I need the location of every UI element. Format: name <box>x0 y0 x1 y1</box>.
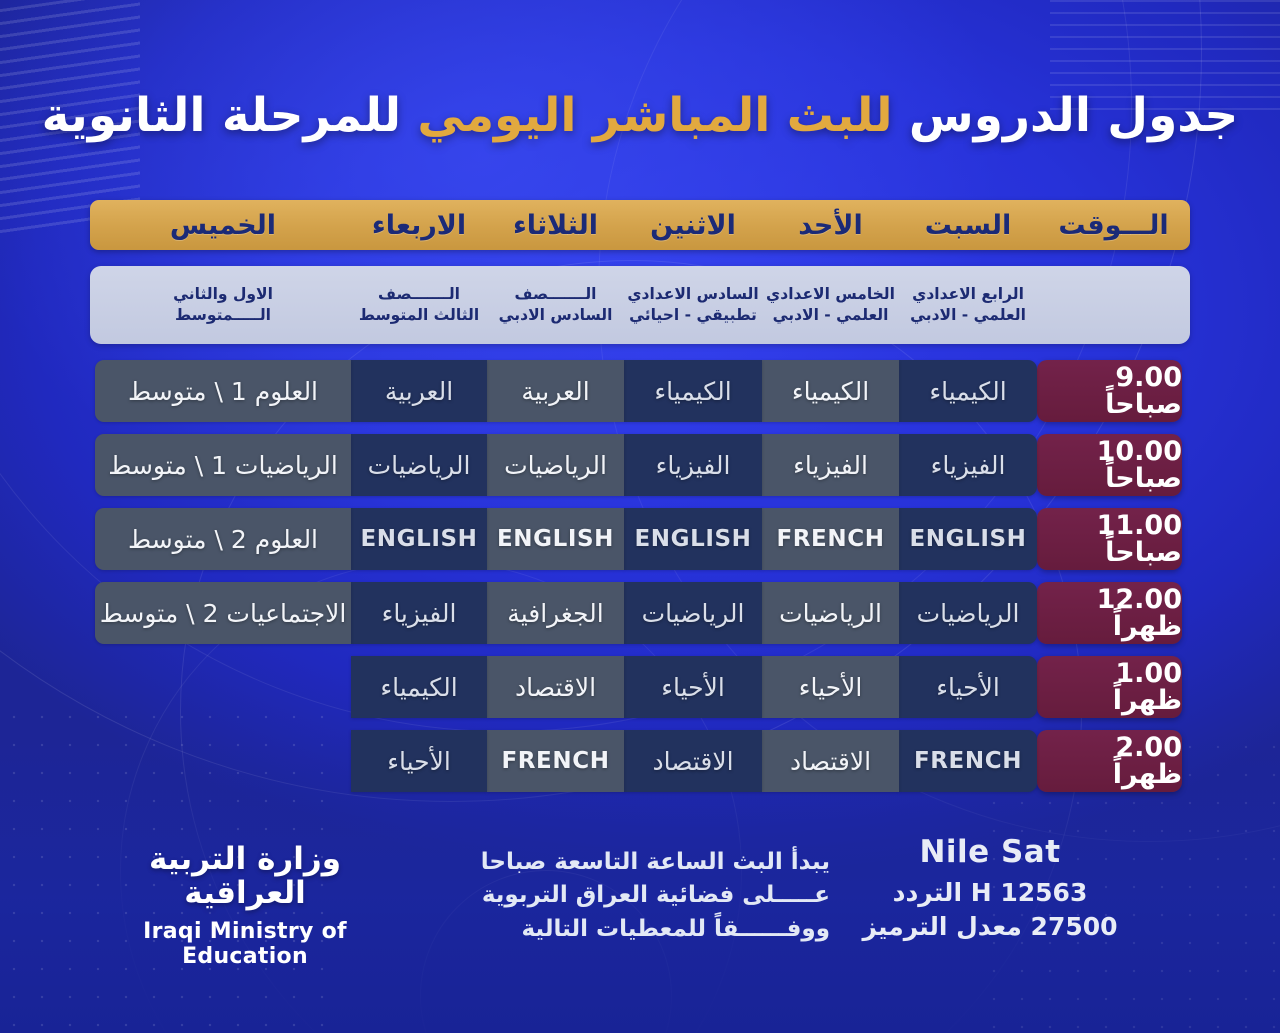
grade-line-1: الرابع الاعدادي <box>912 284 1024 305</box>
schedule-cell-sunday: الفيزياء <box>762 434 899 496</box>
column-header-wednesday: الاربعاء <box>351 212 487 239</box>
schedule-cell-wednesday: الفيزياء <box>351 582 487 644</box>
satellite-symbol-rate: 27500 معدل الترميز <box>855 910 1125 944</box>
subject-label: الرياضيات 1 \ متوسط <box>108 453 338 478</box>
column-header-thursday: الخميس <box>95 212 351 239</box>
schedule-cell-tuesday: FRENCH <box>487 730 624 792</box>
subject-label: الرياضيات <box>642 601 745 626</box>
table-subheader-row: الرابع الاعداديالعلمي - الادبيالخامس الا… <box>90 266 1190 344</box>
subject-label: العربية <box>521 379 589 404</box>
column-header-tuesday: الثلاثاء <box>487 212 624 239</box>
subject-label: ENGLISH <box>909 528 1026 551</box>
broadcast-note-line-1: يبدأ البث الساعة التاسعة صباحا <box>470 846 830 879</box>
subject-label: العلوم 2 \ متوسط <box>128 527 318 552</box>
schedule-cell-monday: الاقتصاد <box>624 730 762 792</box>
table-row: 2.00 ظهراًFRENCHالاقتصادالاقتصادFRENCHال… <box>90 730 1190 792</box>
column-grade-tuesday: الـــــــصفالسادس الادبي <box>487 284 624 326</box>
subject-label: ENGLISH <box>634 528 751 551</box>
schedule-cell-tuesday: الجغرافية <box>487 582 624 644</box>
title-part-2: للمرحلة الثانوية <box>42 88 418 143</box>
schedule-cell-saturday: ENGLISH <box>899 508 1037 570</box>
schedule-cell-wednesday: ENGLISH <box>351 508 487 570</box>
column-header-saturday: السبت <box>899 212 1037 239</box>
subject-label: الجغرافية <box>507 601 603 626</box>
satellite-info: Nile Sat 12563 H التردد 27500 معدل الترم… <box>855 834 1125 944</box>
grade-line-2: الثالث المتوسط <box>359 305 479 326</box>
subject-label: الفيزياء <box>931 453 1006 478</box>
subject-label: الأحياء <box>799 675 863 700</box>
table-header-row: الـــوقتالسبتالأحدالاثنينالثلاثاءالاربعا… <box>90 200 1190 250</box>
time-cell: 9.00 صباحاً <box>1037 360 1182 422</box>
subject-label: الرياضيات <box>504 453 607 478</box>
table-row: 11.00 صباحاًENGLISHFRENCHENGLISHENGLISHE… <box>90 508 1190 570</box>
column-grade-sunday: الخامس الاعداديالعلمي - الادبي <box>762 284 899 326</box>
schedule-cell-wednesday: العربية <box>351 360 487 422</box>
subject-label: الرياضيات <box>368 453 471 478</box>
schedule-cell-tuesday: ENGLISH <box>487 508 624 570</box>
subject-label: الأحياء <box>387 749 451 774</box>
grade-line-1: السادس الاعدادي <box>627 284 758 305</box>
schedule-cell-sunday: الاقتصاد <box>762 730 899 792</box>
grade-line-2: تطبيقي - احيائي <box>629 305 757 326</box>
subject-label: ENGLISH <box>360 528 477 551</box>
schedule-cell-saturday: الكيمياء <box>899 360 1037 422</box>
subject-label: العلوم 1 \ متوسط <box>128 379 318 404</box>
grade-line-2: السادس الادبي <box>499 305 613 326</box>
schedule-cell-monday: الرياضيات <box>624 582 762 644</box>
time-cell: 11.00 صباحاً <box>1037 508 1182 570</box>
schedule-cell-tuesday: العربية <box>487 360 624 422</box>
table-row: 10.00 صباحاًالفيزياءالفيزياءالفيزياءالري… <box>90 434 1190 496</box>
schedule-cell-saturday: الرياضيات <box>899 582 1037 644</box>
ministry-logo-english: Iraqi Ministry of Education <box>95 919 395 969</box>
ministry-logo-arabic: وزارة التربية العراقية <box>95 842 395 910</box>
subject-label: الاقتصاد <box>515 675 596 700</box>
schedule-table: الـــوقتالسبتالأحدالاثنينالثلاثاءالاربعا… <box>90 200 1190 792</box>
ministry-logo: وزارة التربية العراقية Iraqi Ministry of… <box>95 842 395 969</box>
table-body: 9.00 صباحاًالكيمياءالكيمياءالكيمياءالعرب… <box>90 360 1190 792</box>
broadcast-note-line-2: عـــــلى فضائية العراق التربوية <box>470 879 830 912</box>
schedule-cell-thursday <box>95 730 351 792</box>
schedule-cell-thursday <box>95 656 351 718</box>
column-grade-thursday: الاول والثانيالـــــمتوسط <box>95 284 351 326</box>
table-row: 12.00 ظهراًالرياضياتالرياضياتالرياضياتال… <box>90 582 1190 644</box>
schedule-cell-thursday: الرياضيات 1 \ متوسط <box>95 434 351 496</box>
schedule-cell-tuesday: الاقتصاد <box>487 656 624 718</box>
column-grade-saturday: الرابع الاعداديالعلمي - الادبي <box>899 284 1037 326</box>
title-part-highlight: للبث المباشر اليومي <box>417 88 892 143</box>
schedule-cell-thursday: الاجتماعيات 2 \ متوسط <box>95 582 351 644</box>
column-header-time: الـــوقت <box>1037 212 1190 239</box>
subject-label: الأحياء <box>936 675 1000 700</box>
title-part-1: جدول الدروس <box>893 88 1239 143</box>
subject-label: الكيمياء <box>792 379 869 404</box>
grade-line-2: العلمي - الادبي <box>910 305 1026 326</box>
subject-label: الاقتصاد <box>790 749 871 774</box>
schedule-cell-wednesday: الكيمياء <box>351 656 487 718</box>
schedule-cell-monday: ENGLISH <box>624 508 762 570</box>
schedule-cell-sunday: الرياضيات <box>762 582 899 644</box>
schedule-cell-tuesday: الرياضيات <box>487 434 624 496</box>
schedule-cell-wednesday: الرياضيات <box>351 434 487 496</box>
grade-line-1: الاول والثاني <box>173 284 273 305</box>
satellite-name: Nile Sat <box>855 834 1125 870</box>
schedule-cell-saturday: الفيزياء <box>899 434 1037 496</box>
subject-label: الاجتماعيات 2 \ متوسط <box>100 601 347 626</box>
time-cell: 10.00 صباحاً <box>1037 434 1182 496</box>
schedule-cell-sunday: FRENCH <box>762 508 899 570</box>
table-row: 9.00 صباحاًالكيمياءالكيمياءالكيمياءالعرب… <box>90 360 1190 422</box>
page-title: جدول الدروس للبث المباشر اليومي للمرحلة … <box>0 88 1280 143</box>
subject-label: الرياضيات <box>779 601 882 626</box>
subject-label: الفيزياء <box>382 601 457 626</box>
column-header-monday: الاثنين <box>624 212 762 239</box>
subject-label: الرياضيات <box>917 601 1020 626</box>
schedule-cell-thursday: العلوم 2 \ متوسط <box>95 508 351 570</box>
broadcast-note-line-3: ووفــــــقاً للمعطيات التالية <box>470 913 830 946</box>
schedule-cell-thursday: العلوم 1 \ متوسط <box>95 360 351 422</box>
subject-label: ENGLISH <box>497 528 614 551</box>
column-grade-wednesday: الـــــــصفالثالث المتوسط <box>351 284 487 326</box>
schedule-cell-saturday: الأحياء <box>899 656 1037 718</box>
table-row: 1.00 ظهراًالأحياءالأحياءالأحياءالاقتصادا… <box>90 656 1190 718</box>
time-cell: 1.00 ظهراً <box>1037 656 1182 718</box>
grade-line-1: الخامس الاعدادي <box>766 284 895 305</box>
subject-label: FRENCH <box>501 750 609 773</box>
column-grade-monday: السادس الاعداديتطبيقي - احيائي <box>624 284 762 326</box>
subject-label: الأحياء <box>661 675 725 700</box>
schedule-cell-monday: الكيمياء <box>624 360 762 422</box>
schedule-cell-monday: الفيزياء <box>624 434 762 496</box>
subject-label: FRENCH <box>776 528 884 551</box>
schedule-cell-wednesday: الأحياء <box>351 730 487 792</box>
subject-label: الكيمياء <box>380 675 457 700</box>
satellite-frequency: 12563 H التردد <box>855 876 1125 910</box>
subject-label: FRENCH <box>914 750 1022 773</box>
subject-label: الكيمياء <box>929 379 1006 404</box>
subject-label: الكيمياء <box>654 379 731 404</box>
footer: Nile Sat 12563 H التردد 27500 معدل الترم… <box>0 820 1280 995</box>
grade-line-1: الـــــــصف <box>378 284 460 305</box>
subject-label: الاقتصاد <box>652 749 733 774</box>
subject-label: الفيزياء <box>656 453 731 478</box>
schedule-cell-sunday: الكيمياء <box>762 360 899 422</box>
column-header-sunday: الأحد <box>762 212 899 239</box>
subject-label: العربية <box>385 379 453 404</box>
time-cell: 2.00 ظهراً <box>1037 730 1182 792</box>
subject-label: الفيزياء <box>793 453 868 478</box>
schedule-cell-monday: الأحياء <box>624 656 762 718</box>
broadcast-note: يبدأ البث الساعة التاسعة صباحا عـــــلى … <box>470 846 830 946</box>
schedule-cell-saturday: FRENCH <box>899 730 1037 792</box>
grade-line-1: الـــــــصف <box>515 284 597 305</box>
time-cell: 12.00 ظهراً <box>1037 582 1182 644</box>
grade-line-2: العلمي - الادبي <box>773 305 889 326</box>
grade-line-2: الـــــمتوسط <box>175 305 271 326</box>
schedule-cell-sunday: الأحياء <box>762 656 899 718</box>
